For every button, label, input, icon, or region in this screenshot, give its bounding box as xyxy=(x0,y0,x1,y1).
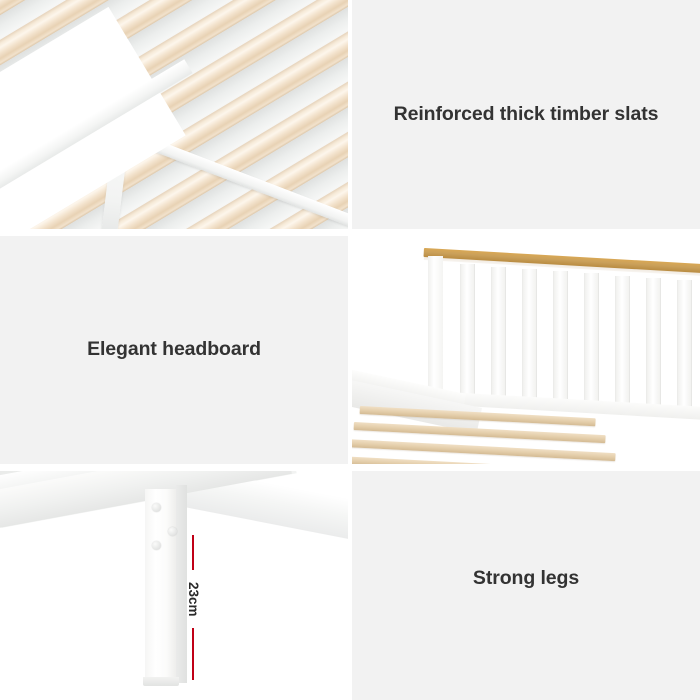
timber-slats-caption-panel: Reinforced thick timber slats xyxy=(352,0,700,229)
feature-collage: Reinforced thick timber slats Elegant he… xyxy=(0,0,700,700)
bed-slat xyxy=(354,422,606,443)
dimension-label: 23cm xyxy=(186,572,200,626)
timber-slats-caption-text: Reinforced thick timber slats xyxy=(394,103,659,126)
headboard-caption-panel: Elegant headboard xyxy=(0,236,348,464)
legs-caption-panel: Strong legs xyxy=(352,471,700,700)
leg-foot xyxy=(143,677,179,686)
leg-post xyxy=(145,489,176,685)
headboard-left-post xyxy=(428,256,443,402)
bed-leg-illustration xyxy=(0,471,348,700)
screw-dot xyxy=(152,541,161,550)
dimension-line-lower xyxy=(192,628,194,680)
screw-dot xyxy=(152,503,161,512)
legs-photo xyxy=(0,471,348,700)
headboard-illustration xyxy=(352,236,700,464)
legs-caption-text: Strong legs xyxy=(473,567,579,590)
headboard-photo xyxy=(352,236,700,464)
headboard-caption-text: Elegant headboard xyxy=(87,338,261,361)
dimension-line-upper xyxy=(192,535,194,570)
screw-dot xyxy=(168,527,177,536)
timber-slats-photo xyxy=(0,0,348,229)
bed-slat xyxy=(352,439,616,461)
